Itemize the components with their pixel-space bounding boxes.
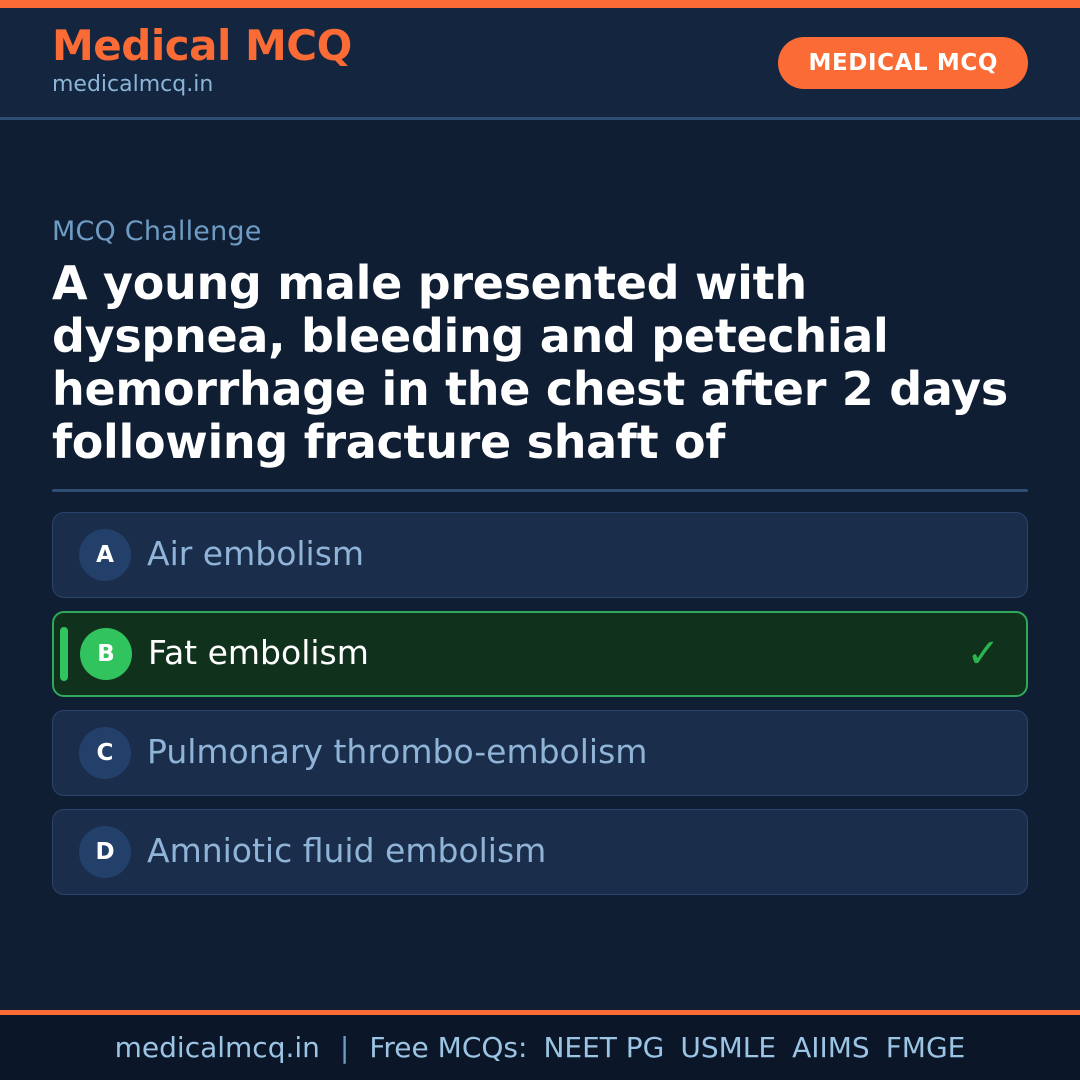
header-badge: MEDICAL MCQ (778, 37, 1028, 89)
footer-exam-fmge[interactable]: FMGE (886, 1031, 966, 1064)
option-label: Amniotic fluid embolism (147, 833, 546, 869)
footer-exam-usmle[interactable]: USMLE (680, 1031, 776, 1064)
footer-separator: | (336, 1031, 353, 1064)
options-list: A Air embolism ✓ B Fat embolism ✓ C Pulm… (52, 512, 1028, 895)
check-icon: ✓ (966, 634, 1000, 674)
option-letter-badge: B (80, 628, 132, 680)
question-text: A young male presented with dyspnea, ble… (52, 257, 1028, 475)
option-c[interactable]: C Pulmonary thrombo-embolism ✓ (52, 710, 1028, 796)
footer-label: Free MCQs: (369, 1031, 527, 1064)
brand: Medical MCQ medicalmcq.in (52, 24, 352, 101)
option-label: Pulmonary thrombo-embolism (147, 734, 647, 770)
footer-exam-neetpg[interactable]: NEET PG (543, 1031, 664, 1064)
footer-site[interactable]: medicalmcq.in (115, 1031, 320, 1064)
eyebrow-label: MCQ Challenge (52, 216, 1028, 247)
option-d[interactable]: D Amniotic fluid embolism ✓ (52, 809, 1028, 895)
brand-subtitle: medicalmcq.in (52, 70, 352, 101)
section-divider (52, 489, 1028, 492)
footer-exam-list: NEET PG USMLE AIIMS FMGE (543, 1031, 965, 1064)
footer-text: medicalmcq.in | Free MCQs: NEET PG USMLE… (115, 1031, 966, 1064)
brand-title: Medical MCQ (52, 24, 352, 68)
main-content: MCQ Challenge A young male presented wit… (0, 120, 1080, 1010)
mcq-card: Medical MCQ medicalmcq.in MEDICAL MCQ MC… (0, 0, 1080, 1080)
top-accent-bar (0, 0, 1080, 8)
option-letter-badge: A (79, 529, 131, 581)
option-b[interactable]: B Fat embolism ✓ (52, 611, 1028, 697)
page-footer: medicalmcq.in | Free MCQs: NEET PG USMLE… (0, 1010, 1080, 1080)
option-label: Air embolism (147, 536, 364, 572)
option-letter-badge: D (79, 826, 131, 878)
option-letter-badge: C (79, 727, 131, 779)
footer-exam-aiims[interactable]: AIIMS (792, 1031, 870, 1064)
option-label: Fat embolism (148, 635, 369, 671)
option-a[interactable]: A Air embolism ✓ (52, 512, 1028, 598)
page-header: Medical MCQ medicalmcq.in MEDICAL MCQ (0, 8, 1080, 120)
